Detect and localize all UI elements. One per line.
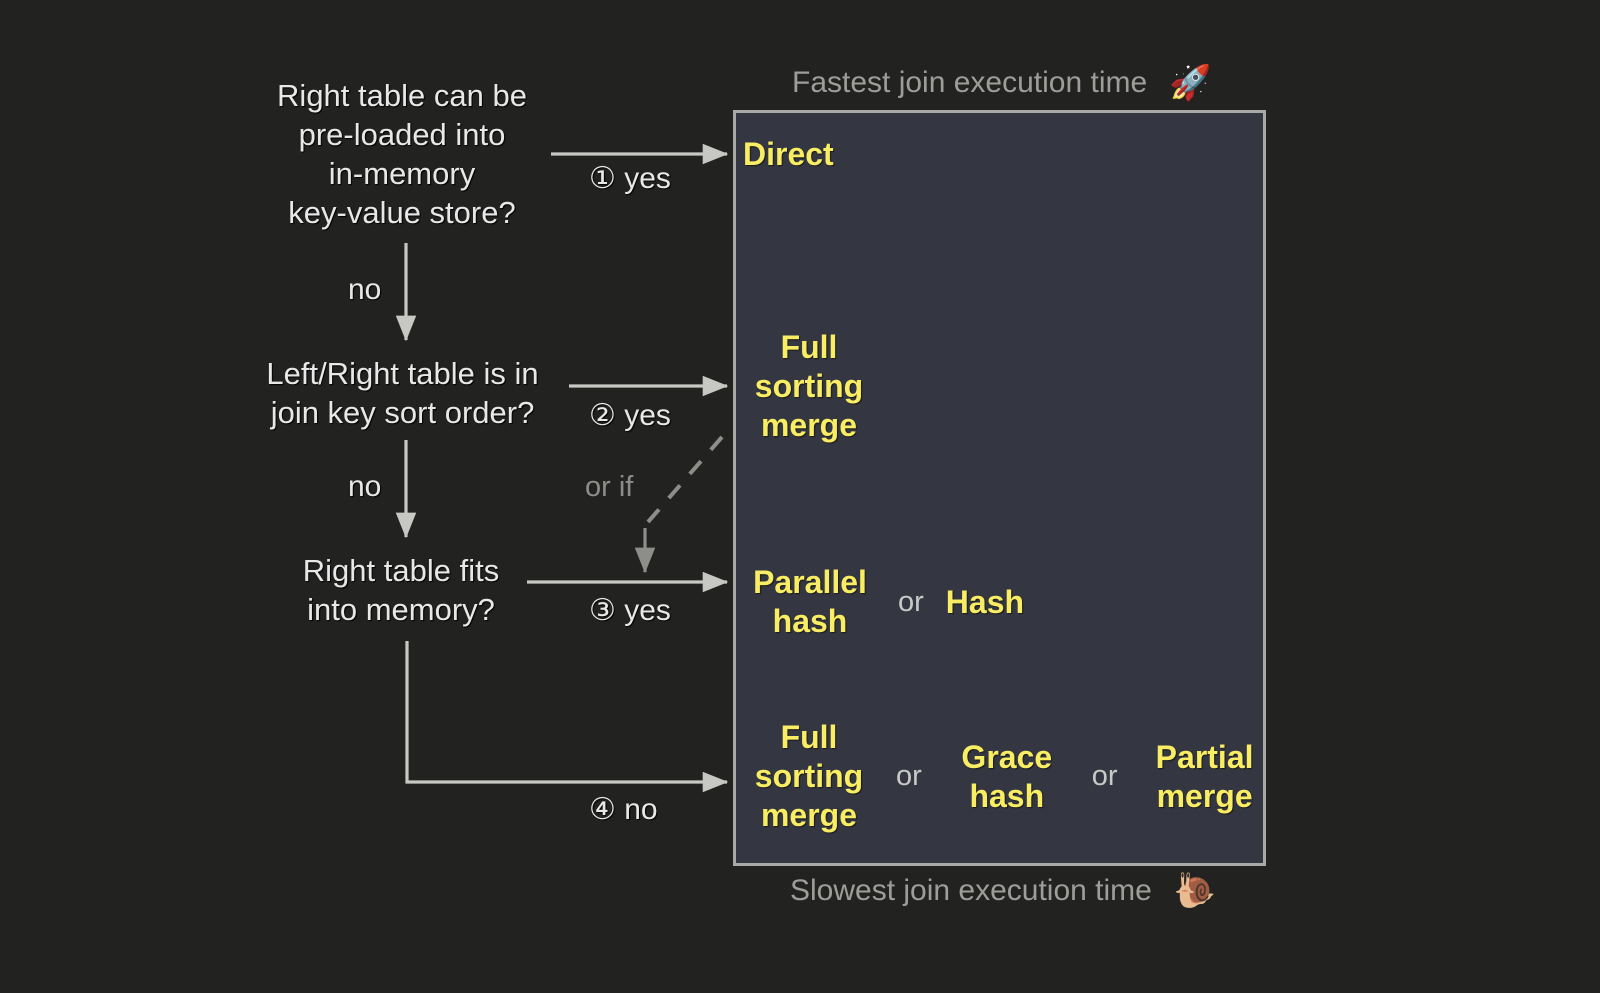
snail-emoji: 🐌 <box>1174 874 1216 908</box>
outcome-partial-merge: Partial merge <box>1140 738 1270 816</box>
decision-kv-store: Right table can be pre-loaded into in-me… <box>242 76 562 232</box>
or-separator-2: or <box>874 760 944 793</box>
edge-label-yes-3: ③ yes <box>589 594 671 628</box>
caption-fastest: Fastest join execution time 🚀 <box>792 66 1212 100</box>
diagram-canvas: Fastest join execution time 🚀 Right tabl… <box>0 0 1600 993</box>
outcome-row-direct: Direct <box>743 135 834 174</box>
outcome-full-sorting-merge-slow: Full sorting merge <box>744 718 874 835</box>
outcome-row-slowest: Full sorting merge or Grace hash or Part… <box>744 718 1270 835</box>
caption-slowest: Slowest join execution time 🐌 <box>790 874 1216 908</box>
join-algorithm-panel: Direct Full sorting merge Parallel hash … <box>733 110 1266 866</box>
caption-slowest-text: Slowest join execution time <box>790 874 1152 908</box>
or-if-label: or if <box>585 471 633 504</box>
outcome-full-sorting-merge: Full sorting merge <box>744 328 874 445</box>
rocket-emoji: 🚀 <box>1169 66 1211 100</box>
outcome-row-parallel-hash: Parallel hash or Hash <box>744 563 1024 641</box>
outcome-row-full-sorting-merge-top: Full sorting merge <box>744 328 874 445</box>
outcome-hash: Hash <box>946 583 1024 622</box>
or-separator-3: or <box>1070 760 1140 793</box>
edge-label-no-4: ④ no <box>589 793 658 827</box>
edge-label-no-1: no <box>348 273 381 307</box>
decision-fits-memory: Right table fits into memory? <box>262 551 540 629</box>
decision-sort-order: Left/Right table is in join key sort ord… <box>235 354 570 432</box>
edge-label-yes-2: ② yes <box>589 399 671 433</box>
caption-fastest-text: Fastest join execution time <box>792 66 1147 100</box>
dashed-or-if-line <box>648 437 722 522</box>
outcome-parallel-hash: Parallel hash <box>744 563 876 641</box>
edge-label-no-2: no <box>348 470 381 504</box>
outcome-direct: Direct <box>743 135 834 174</box>
or-separator-1: or <box>876 586 946 619</box>
arrow-no-4-elbow <box>407 641 727 782</box>
outcome-grace-hash: Grace hash <box>944 738 1070 816</box>
edge-label-yes-1: ① yes <box>589 162 671 196</box>
